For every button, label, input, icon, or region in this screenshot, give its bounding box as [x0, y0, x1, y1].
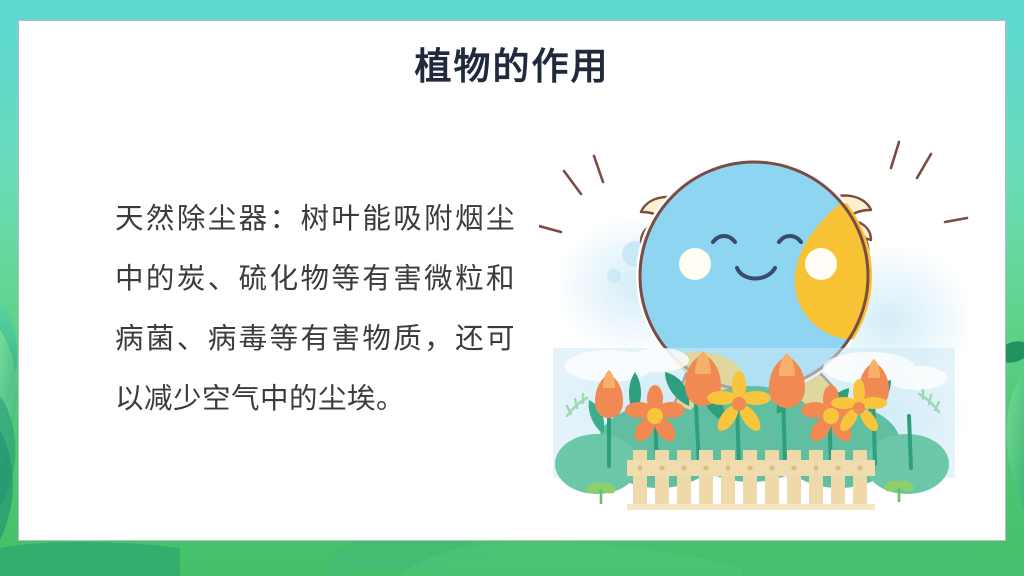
- picket-fence: [627, 450, 875, 510]
- garden-scene: [553, 348, 955, 510]
- page-title: 植物的作用: [19, 45, 1005, 89]
- earth-blush-left: [679, 248, 711, 280]
- slide-root: 植物的作用 天然除尘器：树叶能吸附烟尘中的炭、硫化物等有害微粒和病菌、病毒等有害…: [0, 0, 1024, 576]
- slide-content-card: 植物的作用 天然除尘器：树叶能吸附烟尘中的炭、硫化物等有害微粒和病菌、病毒等有害…: [18, 20, 1006, 541]
- earth-blush-right: [805, 248, 837, 280]
- body-paragraph: 天然除尘器：树叶能吸附烟尘中的炭、硫化物等有害微粒和病菌、病毒等有害物质，还可以…: [115, 189, 515, 429]
- earth-garden-illustration: [539, 116, 969, 516]
